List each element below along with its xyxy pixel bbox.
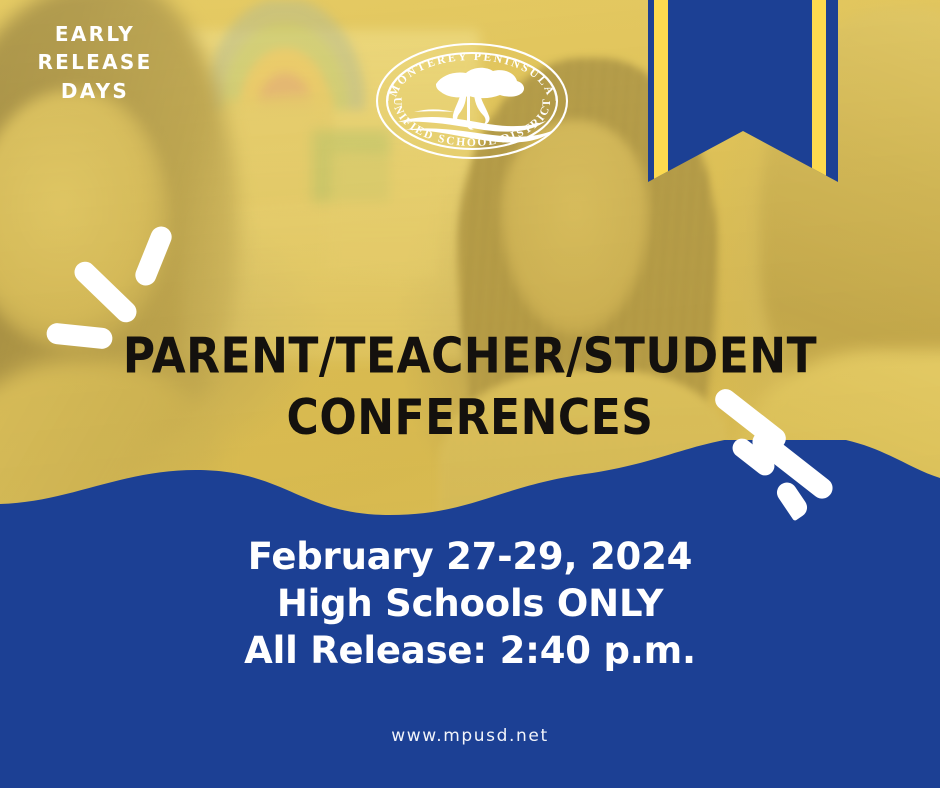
banner-label: EARLY RELEASE DAYS (0, 20, 190, 105)
poster-canvas: MONTEREY PENINSULA UNIFIED SCHOOL DISTRI… (0, 0, 940, 788)
event-details: February 27-29, 2024 High Schools ONLY A… (0, 534, 940, 675)
early-release-banner (648, 0, 838, 182)
website-url[interactable]: www.mpusd.net (0, 726, 940, 746)
event-date: February 27-29, 2024 (0, 534, 940, 581)
banner-line-1: EARLY (0, 20, 190, 48)
banner-line-2: RELEASE (0, 48, 190, 76)
banner-line-3: DAYS (0, 77, 190, 105)
event-release-time: All Release: 2:40 p.m. (0, 628, 940, 675)
page-title: PARENT/TEACHER/STUDENT CONFERENCES (70, 325, 870, 448)
event-scope: High Schools ONLY (0, 581, 940, 628)
mpusd-logo: MONTEREY PENINSULA UNIFIED SCHOOL DISTRI… (374, 42, 570, 160)
burst-stroke-1 (132, 223, 175, 288)
headline-line-2: CONFERENCES (70, 387, 870, 449)
headline-line-1: PARENT/TEACHER/STUDENT (70, 325, 870, 387)
